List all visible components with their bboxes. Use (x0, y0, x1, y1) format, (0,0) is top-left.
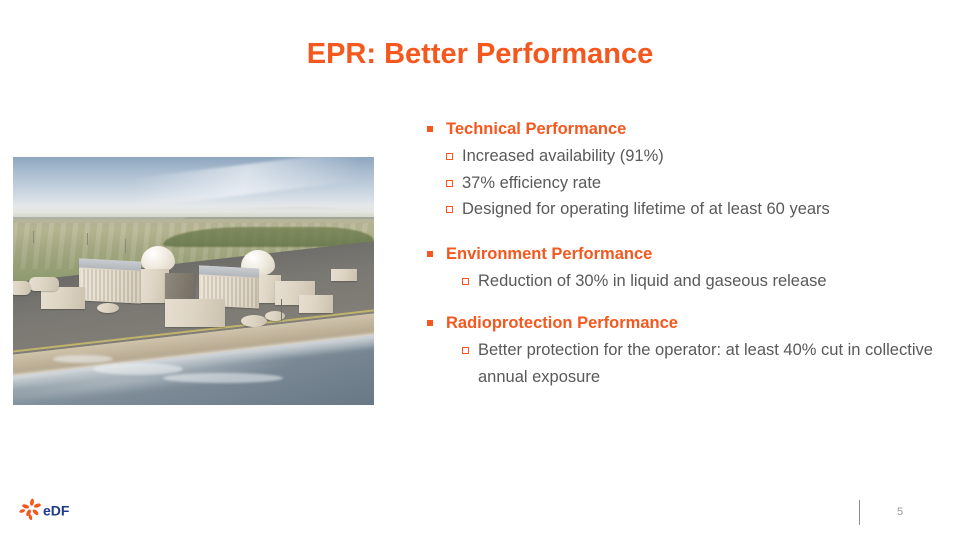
hollow-square-bullet-icon (462, 278, 469, 285)
edf-wordmark: eDF (43, 503, 70, 519)
edf-logo: eDF (18, 498, 84, 522)
page-number: 5 (885, 506, 915, 518)
photo-foam-1 (93, 363, 183, 375)
hollow-square-bullet-icon (446, 180, 453, 187)
footer-divider (859, 500, 860, 525)
hollow-square-bullet-icon (446, 206, 453, 213)
square-bullet-icon (427, 126, 433, 132)
bullet-item: Increased availability (91%) (424, 143, 944, 170)
photo-service-building-center (165, 299, 225, 327)
bullet-group-technical: Technical Performance Increased availabi… (424, 118, 944, 223)
nuclear-plant-aerial-photo (13, 157, 374, 405)
bullet-heading-radioprotection: Radioprotection Performance (424, 312, 944, 334)
photo-horizon-haze (13, 197, 374, 217)
bullet-item: Better protection for the operator: at l… (440, 337, 944, 390)
bullet-item-label: 37% efficiency rate (462, 170, 601, 197)
bullet-item-label: Increased availability (91%) (462, 143, 664, 170)
photo-outbuilding (331, 269, 357, 281)
photo-pylon-3 (33, 231, 34, 243)
square-bullet-icon (427, 320, 433, 326)
bullet-item: 37% efficiency rate (424, 170, 944, 197)
bullet-item: Designed for operating lifetime of at le… (424, 196, 944, 223)
photo-pylon-2 (87, 233, 88, 245)
bullet-item-label: Better protection for the operator: at l… (478, 337, 944, 390)
bullet-group-environment: Environment Performance Reduction of 30%… (424, 243, 944, 295)
hollow-square-bullet-icon (446, 153, 453, 160)
bullet-heading-label: Technical Performance (446, 120, 626, 138)
bullet-heading-environment: Environment Performance (424, 243, 944, 265)
photo-circular-basin-1 (97, 303, 119, 313)
edf-petals-icon (19, 498, 42, 520)
page-title: EPR: Better Performance (0, 38, 960, 71)
bullet-content: Technical Performance Increased availabi… (424, 118, 944, 392)
photo-circular-basin-3 (265, 311, 285, 321)
bullet-item-label: Reduction of 30% in liquid and gaseous r… (478, 268, 827, 295)
bullet-item: Reduction of 30% in liquid and gaseous r… (440, 268, 944, 295)
photo-foam-3 (53, 355, 113, 363)
photo-building-right-lower (299, 295, 333, 313)
square-bullet-icon (427, 251, 433, 257)
hollow-square-bullet-icon (462, 347, 469, 354)
bullet-item-label: Designed for operating lifetime of at le… (462, 196, 830, 223)
photo-pylon-1 (125, 239, 126, 253)
bullet-heading-label: Radioprotection Performance (446, 314, 678, 332)
slide-canvas: EPR: Better Performance (0, 0, 960, 540)
photo-tank-far-left (13, 281, 31, 295)
bullet-heading-label: Environment Performance (446, 245, 652, 263)
bullet-group-radioprotection: Radioprotection Performance Better prote… (424, 312, 944, 390)
bullet-heading-technical: Technical Performance (424, 118, 944, 140)
photo-mast (281, 299, 282, 321)
photo-turbine-hall-1-facade (81, 268, 139, 302)
photo-tank-left (29, 277, 59, 291)
photo-foam-2 (163, 373, 283, 383)
